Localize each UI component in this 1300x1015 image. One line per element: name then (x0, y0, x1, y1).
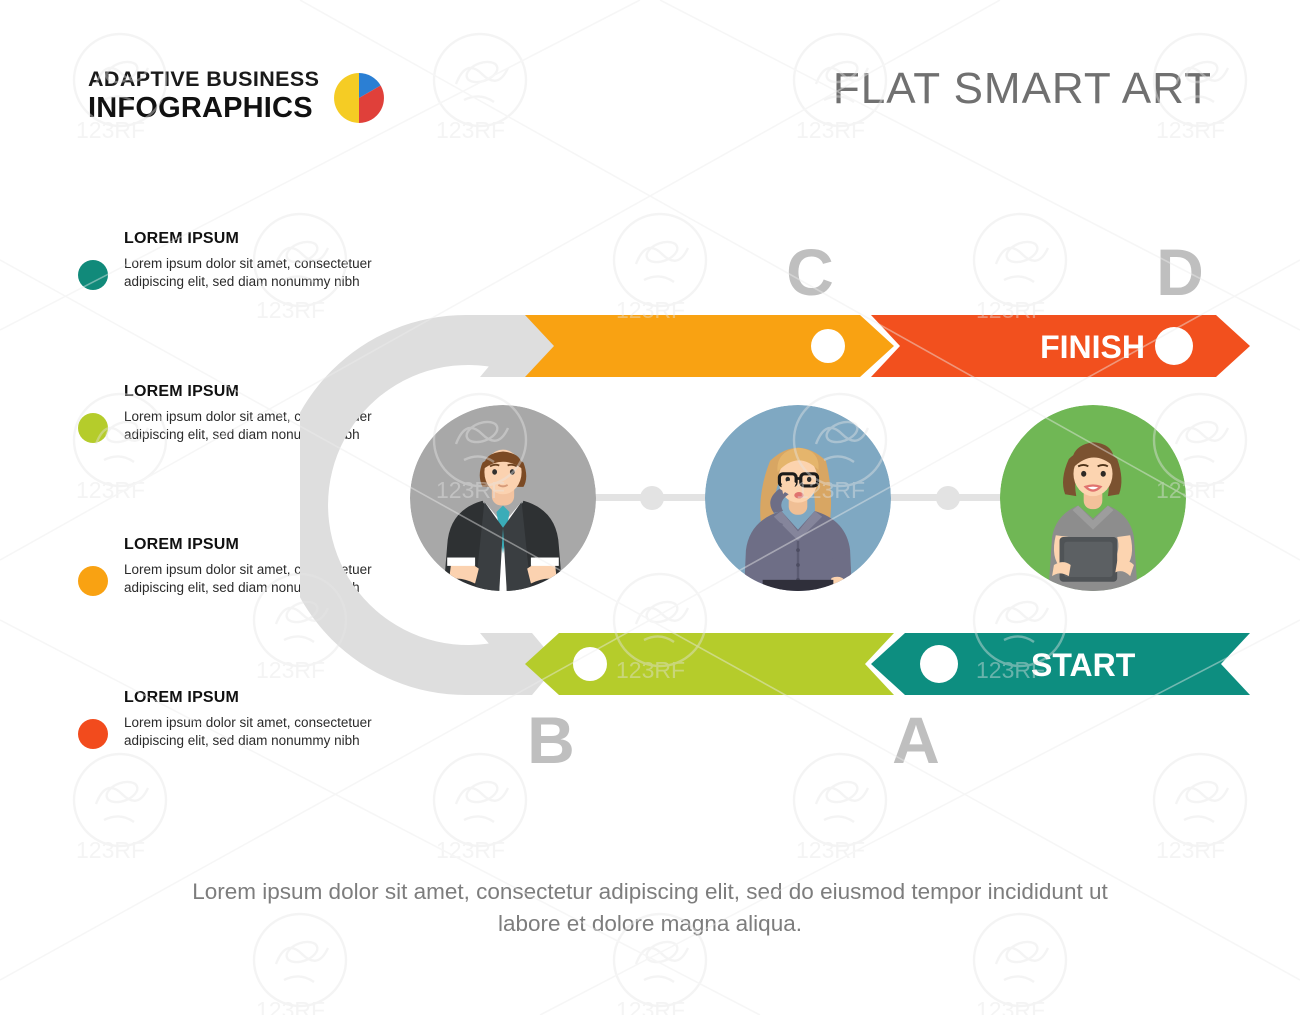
legend-bullet-icon (78, 719, 108, 749)
legend-bullet-icon (78, 260, 108, 290)
process-diagram: FINISH START C D B A (300, 215, 1260, 795)
brand-logo: ADAPTIVE BUSINESS INFOGRAPHICS (88, 68, 385, 124)
businesswoman-tablet-illustration (1000, 405, 1186, 591)
businesswoman-tablet-avatar[interactable] (1000, 405, 1186, 591)
brand-line1: ADAPTIVE BUSINESS (88, 69, 319, 91)
businesswoman-glasses-avatar[interactable] (705, 405, 891, 591)
businesswoman-glasses-illustration (705, 405, 891, 591)
step-letter-b: B (527, 703, 575, 777)
connector-node-icon (640, 486, 664, 510)
ribbon-step-b-marker-icon (573, 647, 607, 681)
step-letter-c: C (786, 235, 834, 309)
ribbon-step-d-marker-icon (1155, 327, 1193, 365)
connector-node-icon (936, 486, 960, 510)
pie-chart-icon (333, 72, 385, 124)
legend-bullet-icon (78, 566, 108, 596)
footer-caption: Lorem ipsum dolor sit amet, consectetur … (190, 876, 1110, 940)
businessman-avatar[interactable] (410, 405, 596, 591)
page-title: FLAT SMART ART (833, 64, 1212, 114)
infographic-slide: ADAPTIVE BUSINESS INFOGRAPHICS FLAT SMAR… (0, 0, 1300, 1015)
ribbon-step-a-label: START (1031, 647, 1136, 683)
ribbon-step-c-marker-icon (811, 329, 845, 363)
businessman-illustration (410, 405, 596, 591)
step-letter-d: D (1156, 235, 1204, 309)
brand-text: ADAPTIVE BUSINESS INFOGRAPHICS (88, 69, 319, 123)
legend-bullet-icon (78, 413, 108, 443)
brand-line2: INFOGRAPHICS (88, 94, 319, 123)
step-letter-a: A (892, 703, 940, 777)
ribbon-step-d-label: FINISH (1040, 329, 1145, 365)
ribbon-step-a-marker-icon (920, 645, 958, 683)
